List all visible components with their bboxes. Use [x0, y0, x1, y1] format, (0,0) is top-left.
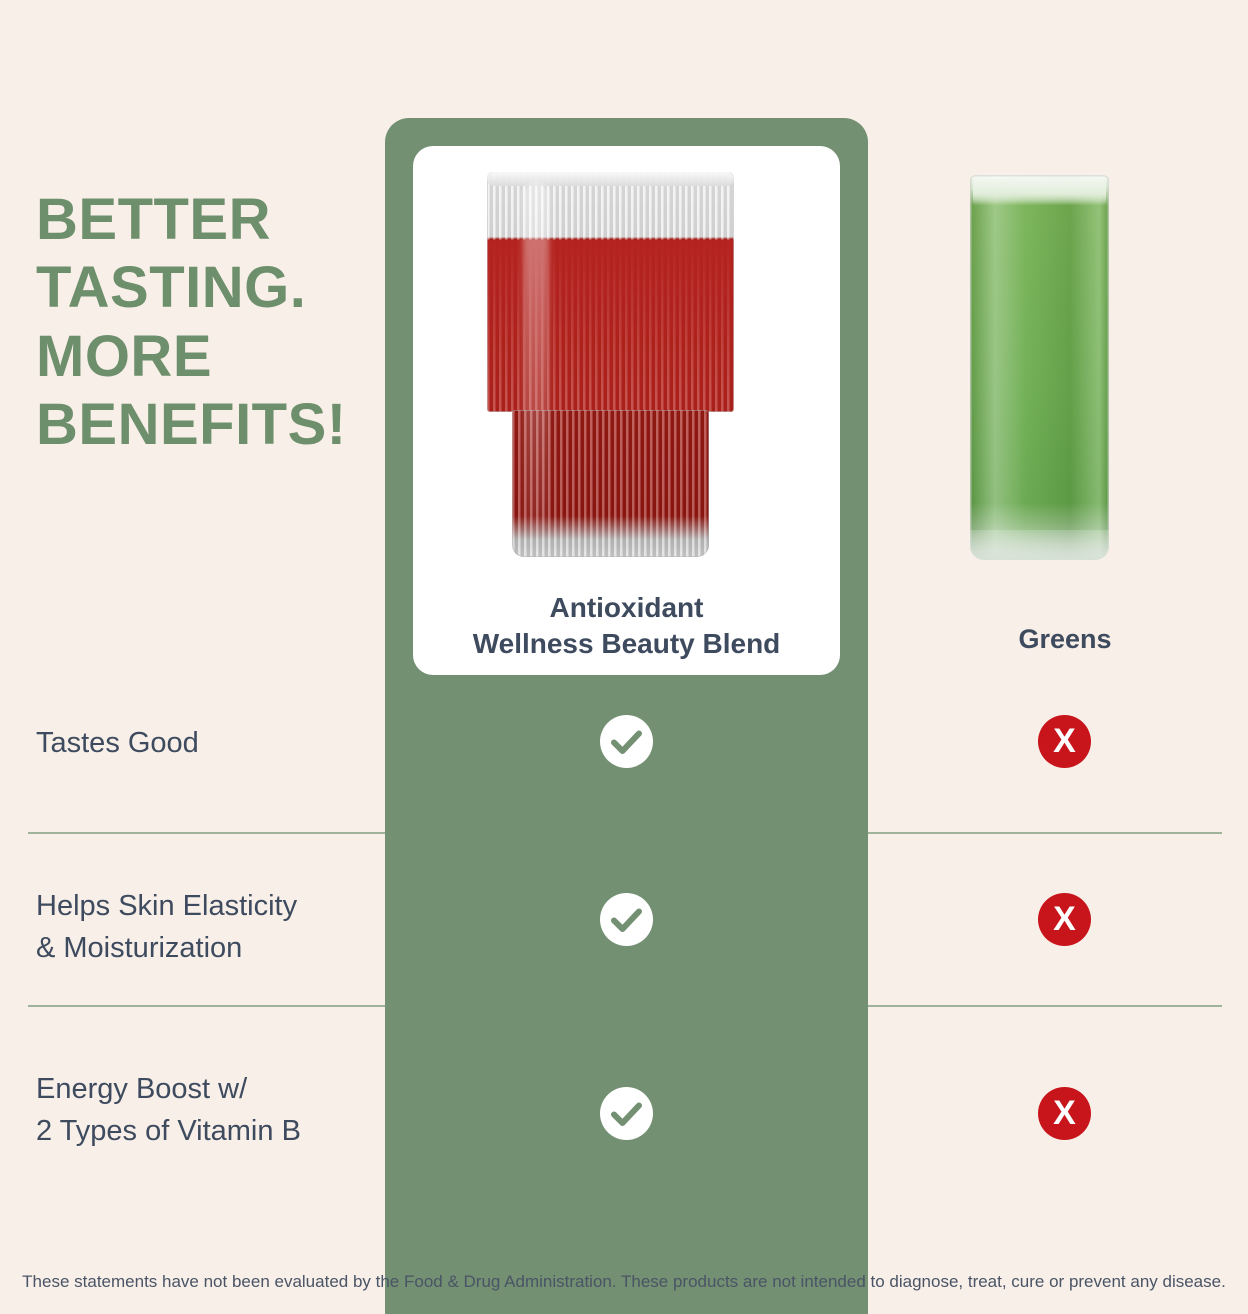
- product-caption-line-1: Antioxidant: [413, 590, 840, 626]
- feature-label-line-1: Energy Boost w/: [36, 1068, 381, 1110]
- check-icon: [600, 893, 653, 946]
- headline-line-4: BENEFITS!: [36, 391, 376, 459]
- feature-label-energy-boost: Energy Boost w/ 2 Types of Vitamin B: [36, 1068, 381, 1153]
- glass-rim: [487, 172, 734, 186]
- check-icon: [600, 1087, 653, 1140]
- green-juice-glass-icon: [967, 175, 1112, 560]
- glass-highlight: [523, 182, 549, 532]
- red-antioxidant-drink-glass-icon: [487, 172, 734, 557]
- feature-label-skin-elasticity: Helps Skin Elasticity & Moisturization: [36, 885, 381, 970]
- headline-line-3: MORE: [36, 323, 376, 391]
- feature-label-line-2: & Moisturization: [36, 927, 381, 969]
- cross-icon: X: [1038, 1087, 1091, 1140]
- comparison-infographic: BETTER TASTING. MORE BENEFITS! Antioxida…: [0, 0, 1248, 1314]
- headline-line-2: TASTING.: [36, 254, 376, 322]
- greens-glass-base: [970, 530, 1109, 560]
- check-icon: [600, 715, 653, 768]
- product-caption: Antioxidant Wellness Beauty Blend: [413, 590, 840, 662]
- page-title: BETTER TASTING. MORE BENEFITS!: [36, 186, 376, 460]
- feature-label-line-1: Helps Skin Elasticity: [36, 885, 381, 927]
- feature-label-tastes-good: Tastes Good: [36, 722, 381, 764]
- feature-label-line-2: 2 Types of Vitamin B: [36, 1110, 381, 1152]
- feature-label-line-1: Tastes Good: [36, 722, 381, 764]
- cross-icon: X: [1038, 893, 1091, 946]
- cross-icon: X: [1038, 715, 1091, 768]
- legal-disclaimer: These statements have not been evaluated…: [0, 1272, 1248, 1292]
- headline-line-1: BETTER: [36, 186, 376, 254]
- greens-glass-foam: [973, 179, 1106, 205]
- product-caption-line-2: Wellness Beauty Blend: [413, 626, 840, 662]
- competitor-caption: Greens: [930, 624, 1200, 655]
- greens-glass-body: [970, 175, 1109, 560]
